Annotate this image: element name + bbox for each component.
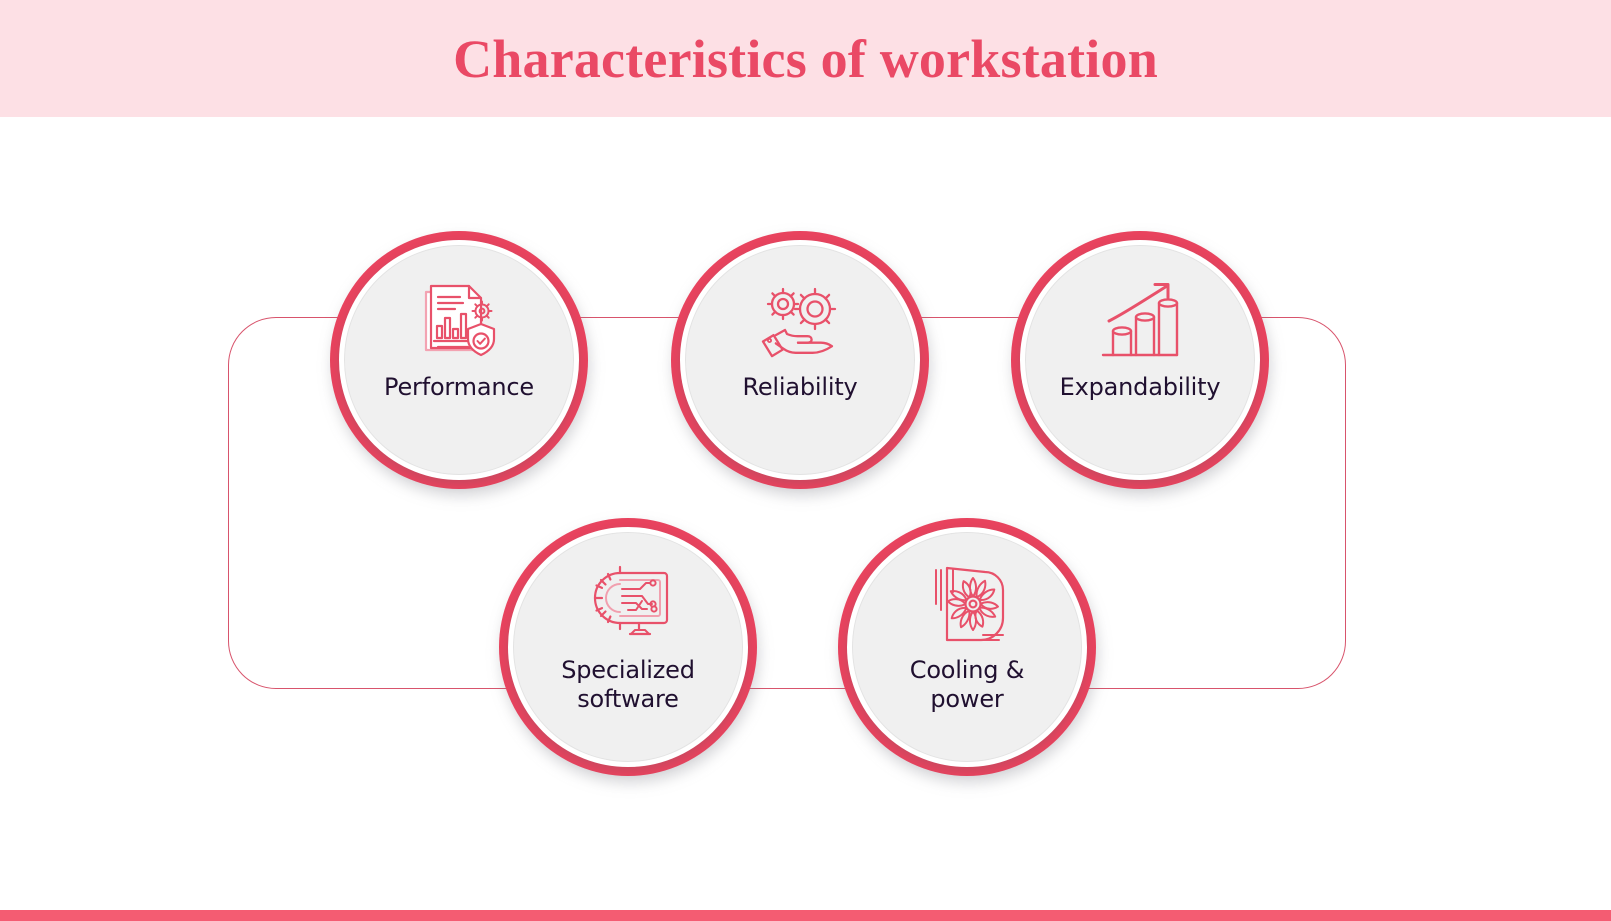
footer-accent-bar bbox=[0, 910, 1611, 921]
node-software[interactable]: Specialized software bbox=[499, 518, 757, 776]
hand-holding-gears-icon bbox=[757, 279, 843, 363]
cooling-fan-icon bbox=[927, 562, 1007, 646]
page-title: Characteristics of workstation bbox=[0, 0, 1611, 117]
growth-bar-chart-arrow-icon bbox=[1099, 279, 1181, 363]
node-reliability-label: Reliability bbox=[726, 373, 873, 402]
node-software-label: Specialized software bbox=[545, 656, 711, 714]
document-chart-gear-shield-icon bbox=[419, 279, 499, 363]
node-cooling[interactable]: Cooling & power bbox=[838, 518, 1096, 776]
node-performance-body: Performance bbox=[339, 240, 579, 480]
infographic-canvas: Characteristics of workstation bbox=[0, 0, 1611, 921]
node-expandability-label: Expandability bbox=[1044, 373, 1237, 402]
node-performance[interactable]: Performance bbox=[330, 231, 588, 489]
node-expandability[interactable]: Expandability bbox=[1011, 231, 1269, 489]
node-cooling-body: Cooling & power bbox=[847, 527, 1087, 767]
node-performance-label: Performance bbox=[368, 373, 550, 402]
node-reliability-body: Reliability bbox=[680, 240, 920, 480]
node-software-body: Specialized software bbox=[508, 527, 748, 767]
node-expandability-body: Expandability bbox=[1020, 240, 1260, 480]
node-cooling-label: Cooling & power bbox=[894, 656, 1040, 714]
node-reliability[interactable]: Reliability bbox=[671, 231, 929, 489]
gear-circuit-monitor-icon bbox=[586, 562, 670, 646]
